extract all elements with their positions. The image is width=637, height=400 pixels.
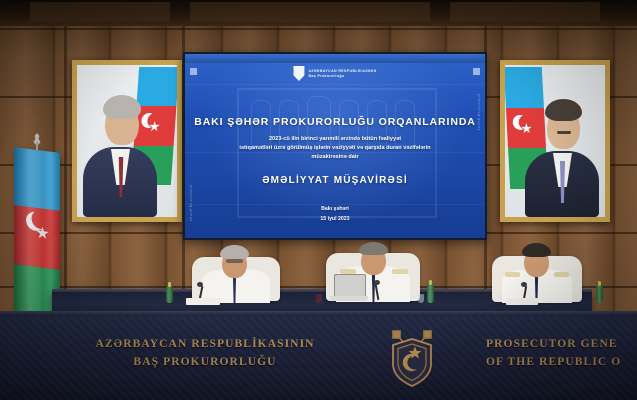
slide-text-block: BAKI ŞƏHƏR PROKURORLUĞU ORQANLARINDA 202… xyxy=(185,116,485,186)
ceiling-panel xyxy=(450,2,600,22)
slide-subtitle-line: müzakirəsinə dair xyxy=(185,153,485,162)
dais-az-title: AZƏRBAYCAN RESPUBLİKASININ BAŞ PROKURORL… xyxy=(74,336,336,372)
epaulette xyxy=(505,272,520,277)
ceiling-panel xyxy=(190,2,430,22)
dais-az-line1: AZƏRBAYCAN RESPUBLİKASININ xyxy=(74,336,336,354)
panel-person-right xyxy=(490,243,584,301)
documents xyxy=(186,298,220,305)
person-hair xyxy=(220,245,249,259)
slide-corner-mark xyxy=(473,68,480,75)
person-hair xyxy=(359,242,388,255)
slide-top-bar xyxy=(185,54,485,63)
slide-subtitle: 2023-cü ilin birinci yarımili ərzində bü… xyxy=(185,135,485,163)
wall-joint xyxy=(64,0,67,318)
water-bottle xyxy=(427,284,434,303)
dais-en-title: PROSECUTOR GENE OF THE REPUBLIC O xyxy=(486,336,637,372)
slide-logo-line2: Baş Prokurorluğu xyxy=(308,74,376,78)
person-hair xyxy=(522,243,551,257)
ceiling-strip xyxy=(0,0,637,26)
portrait-moustache xyxy=(557,131,571,134)
microphone-head xyxy=(197,282,203,287)
eyeglasses-icon xyxy=(226,259,243,263)
dais-en-line1: PROSECUTOR GENE xyxy=(486,336,637,354)
portrait-ilham-aliyev xyxy=(500,60,610,222)
conference-room-photo: AZƏRBAYCAN RESPUBLİKASININ Baş Prokurorl… xyxy=(0,0,637,400)
shield-emblem-icon xyxy=(293,66,304,81)
slide-kicker: ƏMƏLİYYAT MÜŞAVİRƏSİ xyxy=(185,175,485,186)
panel-person-left xyxy=(188,243,284,301)
documents xyxy=(506,298,538,305)
slide-footer: Bakı şəhəri 15 iyul 2023 xyxy=(185,205,485,225)
portrait-heydar-aliyev xyxy=(72,60,182,222)
slide-side-caption-left: prokurorluq.gov.az xyxy=(189,185,193,222)
slide-title: BAKI ŞƏHƏR PROKURORLUĞU ORQANLARINDA xyxy=(185,116,485,128)
slide-corner-mark xyxy=(190,68,197,75)
epaulette xyxy=(554,272,569,277)
water-bottle xyxy=(596,285,603,303)
prosecutor-emblem-icon xyxy=(387,326,437,388)
slide-org-logo: AZƏRBAYCAN RESPUBLİKASININ Baş Prokurorl… xyxy=(293,66,376,81)
microphone-head xyxy=(374,280,380,285)
slide-side-caption-right: prokurorluq.gov.az xyxy=(477,94,481,131)
laptop-base xyxy=(330,296,368,301)
slide-surface: AZƏRBAYCAN RESPUBLİKASININ Baş Prokurorl… xyxy=(185,54,485,238)
wall-seam xyxy=(0,28,637,30)
slide-footer-city: Bakı şəhəri xyxy=(185,205,485,215)
drinking-glass xyxy=(418,294,424,303)
slide-subtitle-line: 2023-cü ilin birinci yarımili ərzində bü… xyxy=(185,135,485,144)
projection-screen: AZƏRBAYCAN RESPUBLİKASININ Baş Prokurorl… xyxy=(183,52,487,240)
slide-subtitle-line: istiqamətləri üzrə görülmüş işlərin vəzi… xyxy=(185,144,485,153)
ceiling-panel xyxy=(30,2,170,22)
drinking-glass xyxy=(316,294,322,303)
dais-az-line2: BAŞ PROKURORLUĞU xyxy=(74,354,336,372)
dais-en-line2: OF THE REPUBLIC O xyxy=(486,354,637,372)
laptop-screen xyxy=(334,274,366,298)
epaulette xyxy=(392,269,408,274)
water-bottle xyxy=(166,286,173,303)
microphone-head xyxy=(521,282,527,287)
slide-footer-date: 15 iyul 2023 xyxy=(185,215,485,225)
